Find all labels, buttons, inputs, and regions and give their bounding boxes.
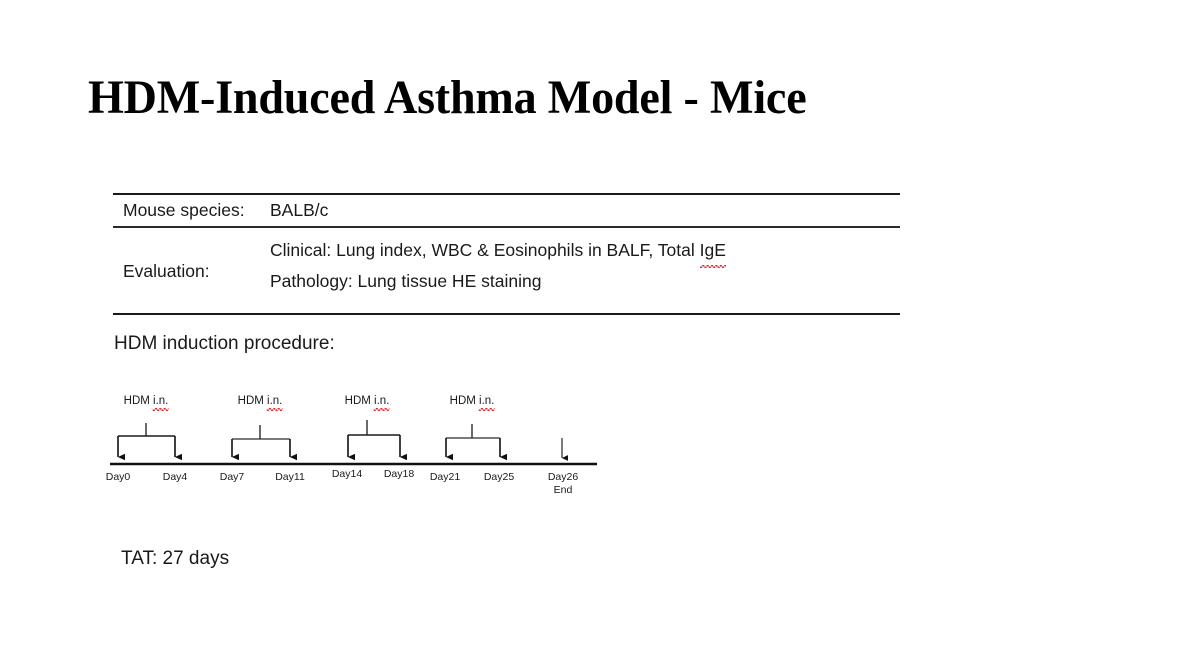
hdm-induction-timeline: HDM i.n. HDM i.n. HDM i.n. HDM i.n. Day0… bbox=[96, 394, 616, 504]
day-label-day0: Day0 bbox=[106, 471, 131, 484]
evaluation-label: Evaluation: bbox=[113, 228, 270, 287]
spellcheck-in-1: i.n. bbox=[153, 394, 168, 409]
day-label-day14: Day14 bbox=[332, 468, 362, 481]
evaluation-clinical-line: Clinical: Lung index, WBC & Eosinophils … bbox=[270, 235, 900, 266]
hdm-dose-label-4: HDM i.n. bbox=[450, 394, 495, 409]
hdm-dose-label-3: HDM i.n. bbox=[345, 394, 390, 409]
day-label-day21: Day21 bbox=[430, 471, 460, 484]
timeline-bracket-2 bbox=[232, 425, 290, 457]
hdm-dose-label-2: HDM i.n. bbox=[238, 394, 283, 409]
hdm-dose-label-1: HDM i.n. bbox=[124, 394, 169, 409]
table-row-mouse-species: Mouse species: BALB/c bbox=[113, 195, 900, 226]
page-title: HDM-Induced Asthma Model - Mice bbox=[88, 68, 806, 128]
table-row-evaluation: Evaluation: Clinical: Lung index, WBC & … bbox=[113, 228, 900, 313]
hdm-dose-label-4-prefix: HDM bbox=[450, 395, 479, 407]
spellcheck-in-3: i.n. bbox=[374, 394, 389, 409]
spellcheck-in-2: i.n. bbox=[267, 394, 282, 409]
day-label-day26-end: Day26 End bbox=[548, 471, 578, 497]
timeline-bracket-4 bbox=[446, 424, 500, 457]
evaluation-clinical-text: Clinical: Lung index, WBC & Eosinophils … bbox=[270, 240, 700, 260]
day-label-day18: Day18 bbox=[384, 468, 414, 481]
day-label-day4: Day4 bbox=[163, 471, 188, 484]
day-label-day25: Day25 bbox=[484, 471, 514, 484]
timeline-bracket-3 bbox=[348, 420, 400, 457]
end-label-line-1: Day26 bbox=[548, 471, 578, 484]
mouse-species-label: Mouse species: bbox=[113, 195, 270, 226]
turnaround-time-text: TAT: 27 days bbox=[121, 546, 229, 572]
evaluation-pathology-line: Pathology: Lung tissue HE staining bbox=[270, 266, 900, 297]
end-label-line-2: End bbox=[548, 484, 578, 497]
timeline-svg bbox=[96, 394, 616, 504]
day-label-day7: Day7 bbox=[220, 471, 245, 484]
hdm-dose-label-1-prefix: HDM bbox=[124, 395, 153, 407]
hdm-dose-label-2-prefix: HDM bbox=[238, 395, 267, 407]
model-info-table: Mouse species: BALB/c Evaluation: Clinic… bbox=[113, 193, 900, 315]
spellcheck-ige: IgE bbox=[700, 235, 726, 266]
table-bottom-border bbox=[113, 313, 900, 315]
spellcheck-in-4: i.n. bbox=[479, 394, 494, 409]
procedure-heading: HDM induction procedure: bbox=[114, 331, 335, 357]
timeline-bracket-1 bbox=[118, 423, 175, 457]
hdm-dose-label-3-prefix: HDM bbox=[345, 395, 374, 407]
evaluation-values: Clinical: Lung index, WBC & Eosinophils … bbox=[270, 228, 900, 297]
mouse-species-value: BALB/c bbox=[270, 195, 900, 226]
day-label-day11: Day11 bbox=[275, 471, 305, 484]
